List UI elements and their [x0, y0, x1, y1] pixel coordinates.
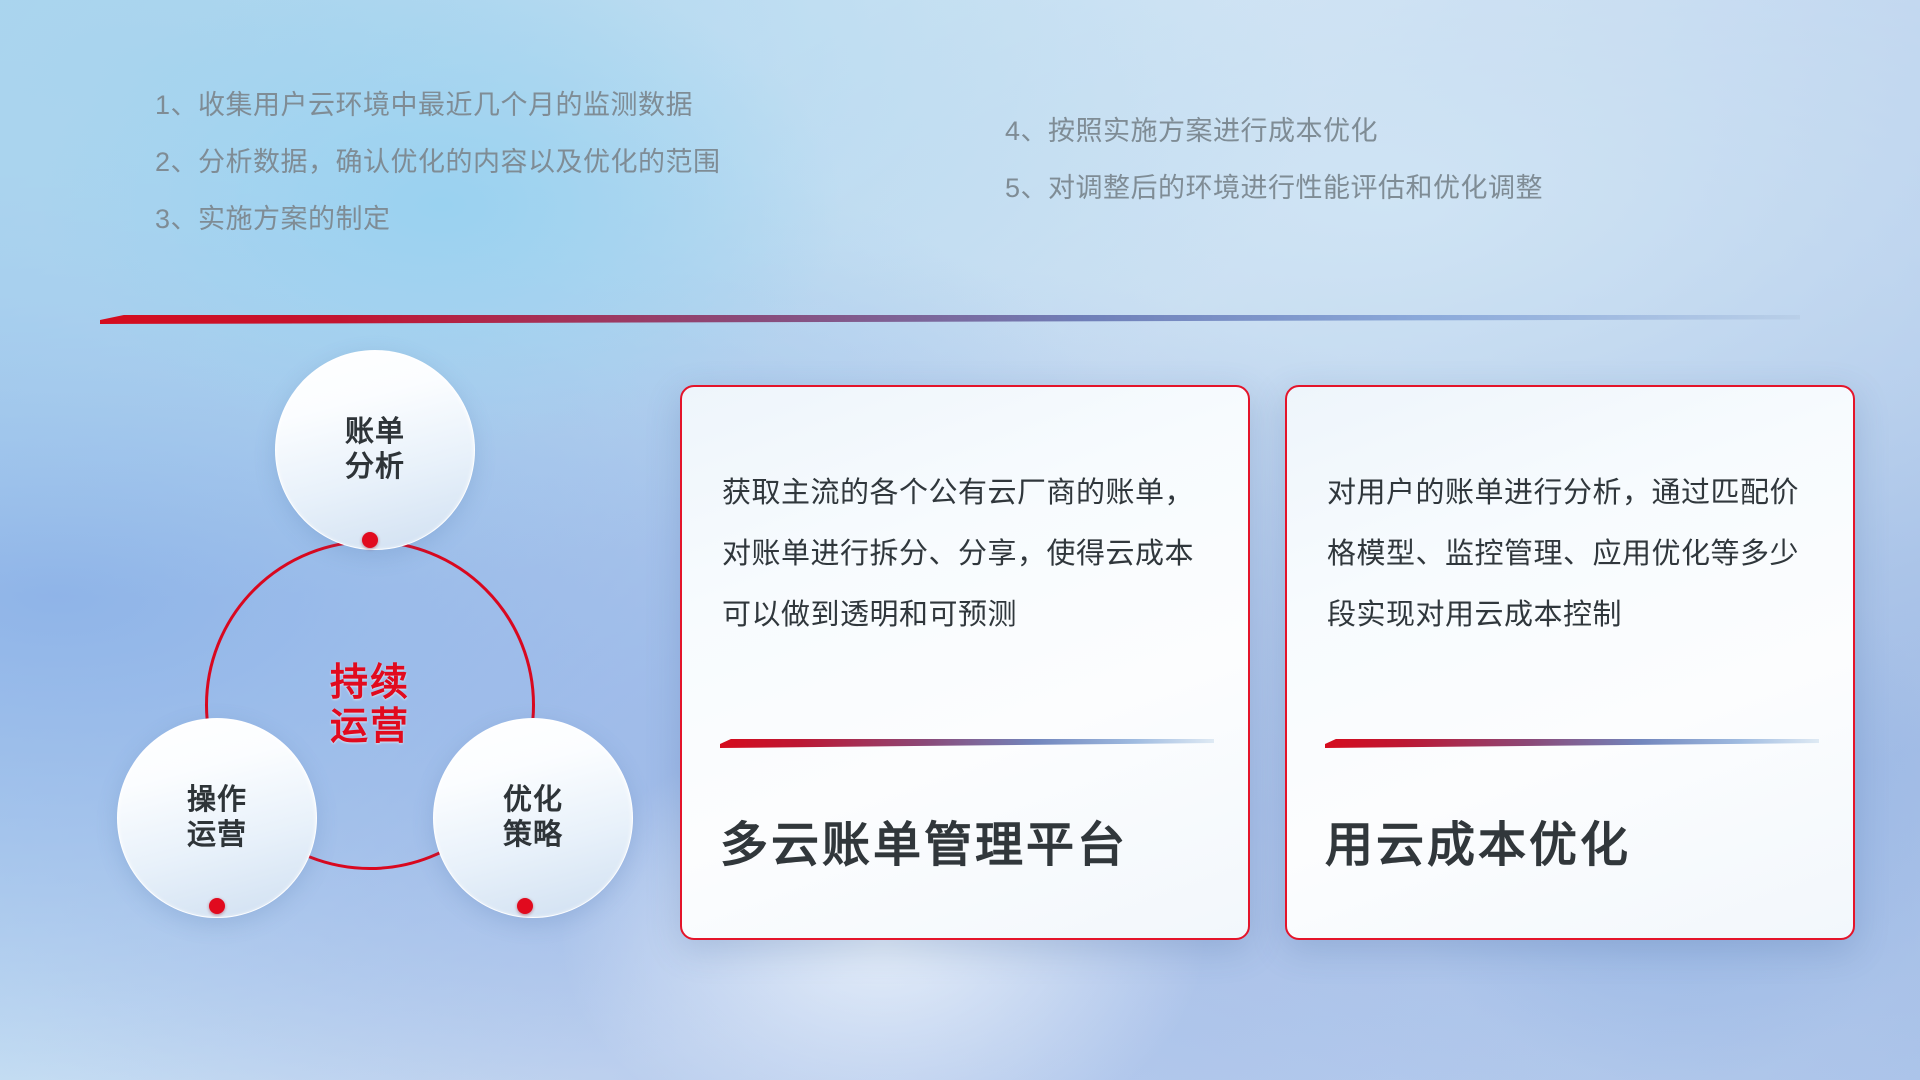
- venn-circle-label: 账单 分析: [345, 415, 405, 486]
- venn-center-line1: 持续: [330, 662, 410, 704]
- card-divider: [1325, 739, 1819, 748]
- venn-circle-bill-analysis[interactable]: 账单 分析: [275, 350, 475, 550]
- process-steps-right-column: 4、按照实施方案进行成本优化 5、对调整后的环境进行性能评估和优化调整: [1005, 118, 1543, 202]
- card-divider: [720, 739, 1214, 748]
- card-multicloud-billing-platform[interactable]: 获取主流的各个公有云厂商的账单，对账单进行拆分、分享，使得云成本可以做到透明和可…: [680, 385, 1250, 940]
- list-item: 3、实施方案的制定: [155, 206, 721, 233]
- list-item: 1、收集用户云环境中最近几个月的监测数据: [155, 92, 721, 119]
- venn-diagram: 账单 分析 操作 运营 优化 策略 持续 运营: [95, 350, 615, 950]
- list-item: 2、分析数据，确认优化的内容以及优化的范围: [155, 149, 721, 176]
- list-item: 5、对调整后的环境进行性能评估和优化调整: [1005, 175, 1543, 202]
- ring-node-left-dot: [209, 898, 225, 914]
- card-body-text: 对用户的账单进行分析，通过匹配价格模型、监控管理、应用优化等多少段实现对用云成本…: [1327, 463, 1817, 646]
- process-steps-left-column: 1、收集用户云环境中最近几个月的监测数据 2、分析数据，确认优化的内容以及优化的…: [155, 92, 721, 233]
- list-item: 4、按照实施方案进行成本优化: [1005, 118, 1543, 145]
- venn-center-label-wrap: 持续 运营: [205, 540, 535, 870]
- card-title: 多云账单管理平台: [720, 805, 1218, 875]
- card-cloud-cost-optimization[interactable]: 对用户的账单进行分析，通过匹配价格模型、监控管理、应用优化等多少段实现对用云成本…: [1285, 385, 1855, 940]
- ring-node-top-dot: [362, 532, 378, 548]
- venn-label-line1: 账单: [345, 416, 405, 448]
- process-steps-section: 1、收集用户云环境中最近几个月的监测数据 2、分析数据，确认优化的内容以及优化的…: [0, 0, 1920, 300]
- venn-label-line2: 分析: [345, 451, 405, 483]
- ring-node-right-dot: [517, 898, 533, 914]
- venn-center-label: 持续 运营: [330, 661, 410, 749]
- card-body-text: 获取主流的各个公有云厂商的账单，对账单进行拆分、分享，使得云成本可以做到透明和可…: [722, 463, 1212, 646]
- card-title: 用云成本优化: [1325, 805, 1823, 875]
- venn-center-line2: 运营: [330, 706, 410, 748]
